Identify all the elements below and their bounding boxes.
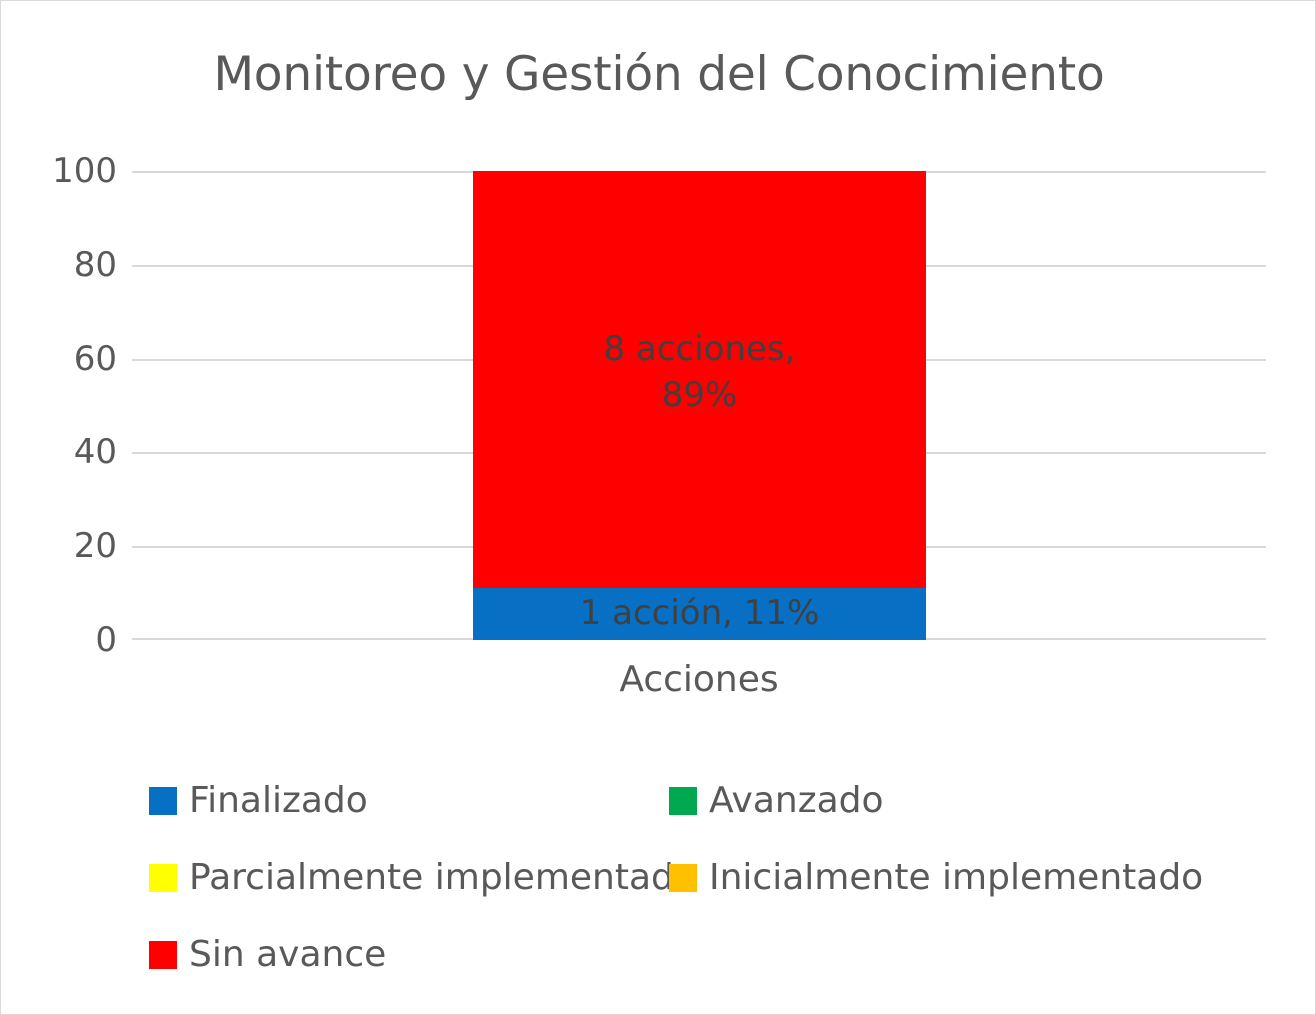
legend-swatch-icon-finalizado (149, 787, 177, 815)
y-axis-tick-60: 60 (7, 342, 117, 376)
y-axis-tick-100: 100 (7, 154, 117, 188)
y-axis-tick-80: 80 (7, 248, 117, 282)
legend-label-inicialmente-implementado: Inicialmente implementado (709, 860, 1203, 896)
y-axis-tick-40: 40 (7, 435, 117, 469)
bar-segment-finalizado[interactable]: 1 acción, 11% (473, 588, 926, 640)
legend-swatch-icon-parcialmente-implementado (149, 864, 177, 892)
legend-item-parcialmente-implementado[interactable]: Parcialmente implementado (149, 854, 669, 902)
legend-row: Finalizado Avanzado (149, 777, 1209, 854)
legend-swatch-icon-inicialmente-implementado (669, 864, 697, 892)
legend-label-avanzado: Avanzado (709, 783, 884, 819)
legend-item-sin-avance[interactable]: Sin avance (149, 931, 669, 979)
legend-row: Sin avance (149, 931, 1209, 1008)
y-axis-tick-0: 0 (7, 623, 117, 657)
bar-label-finalizado: 1 acción, 11% (580, 591, 820, 637)
bar-label-sin-avance-line1: 8 acciones, (604, 327, 796, 373)
y-axis-tick-20: 20 (7, 529, 117, 563)
chart-title: Monitoreo y Gestión del Conocimiento (1, 47, 1316, 102)
legend-item-finalizado[interactable]: Finalizado (149, 777, 669, 825)
bar-label-sin-avance: 8 acciones, 89% (604, 327, 796, 419)
legend-label-finalizado: Finalizado (189, 783, 368, 819)
plot-area: 8 acciones, 89% 1 acción, 11% (132, 171, 1266, 640)
x-axis-category-label: Acciones (132, 659, 1266, 700)
legend-row: Parcialmente implementado Inicialmente i… (149, 854, 1209, 931)
legend-item-avanzado[interactable]: Avanzado (669, 777, 1189, 825)
bar-label-sin-avance-line2: 89% (604, 373, 796, 419)
chart-legend: Finalizado Avanzado Parcialmente impleme… (149, 777, 1209, 1008)
bar-segment-sin-avance[interactable]: 8 acciones, 89% (473, 171, 926, 588)
legend-swatch-icon-avanzado (669, 787, 697, 815)
legend-label-parcialmente-implementado: Parcialmente implementado (189, 860, 696, 896)
legend-item-inicialmente-implementado[interactable]: Inicialmente implementado (669, 854, 1189, 902)
legend-label-sin-avance: Sin avance (189, 937, 386, 973)
stacked-bar-acciones[interactable]: 8 acciones, 89% 1 acción, 11% (473, 171, 926, 640)
legend-swatch-icon-sin-avance (149, 941, 177, 969)
chart-container: Monitoreo y Gestión del Conocimiento 100… (0, 0, 1316, 1015)
